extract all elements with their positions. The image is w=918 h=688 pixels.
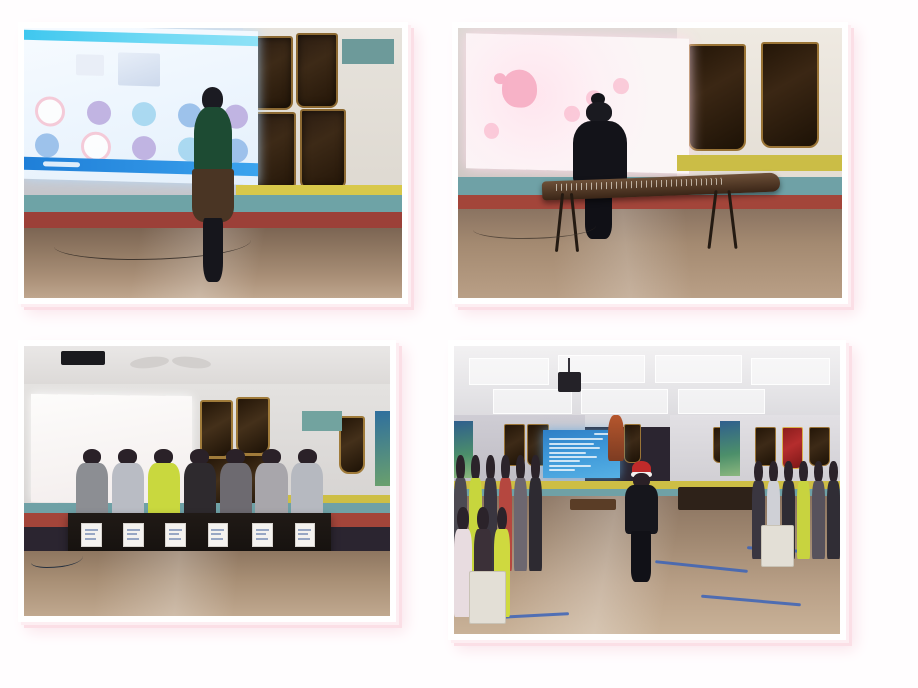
ceiling-projector <box>61 351 105 365</box>
honor-plaque <box>755 427 776 466</box>
honor-plaque <box>688 44 746 151</box>
audience-chair <box>761 525 794 567</box>
speaker-legs <box>631 531 650 582</box>
ceiling-coffer <box>581 389 668 414</box>
paper-sign <box>165 523 185 547</box>
paper-sign <box>208 523 228 547</box>
decoration-plant <box>608 415 623 461</box>
room-door <box>342 39 395 190</box>
honor-plaque <box>339 416 365 474</box>
performer <box>75 449 108 519</box>
singer-torso <box>194 107 232 177</box>
ceiling-coffer <box>655 355 742 383</box>
balloon-icon <box>613 77 629 94</box>
guzheng-strings <box>557 178 724 191</box>
app-icon <box>132 135 156 160</box>
paper-sign <box>123 523 143 547</box>
photo-bottom-left[interactable] <box>24 346 390 616</box>
app-icon <box>81 131 111 162</box>
wall-stripe-yellow <box>677 155 842 171</box>
photo-frame-bottom-right[interactable] <box>448 340 846 640</box>
honor-plaque <box>296 33 338 107</box>
ceiling-coffer <box>751 358 830 386</box>
ceiling-fan-icon <box>130 357 211 368</box>
stage-table <box>68 513 332 556</box>
photo-bottom-right[interactable] <box>454 346 840 634</box>
speaker-body <box>625 485 658 533</box>
ceiling-coffer <box>493 389 572 414</box>
app-thumbnail <box>118 52 160 87</box>
honor-plaque <box>761 42 819 149</box>
ceiling-projector <box>558 372 581 392</box>
audience-chair <box>469 571 506 625</box>
photo-collage <box>0 0 918 688</box>
performer <box>255 449 288 519</box>
app-logo <box>43 161 80 167</box>
honor-plaque <box>300 109 346 189</box>
small-table <box>570 499 616 511</box>
honor-plaque <box>809 427 830 466</box>
speaker-figure <box>624 461 659 582</box>
wall-bench <box>678 487 755 510</box>
photo-frame-top-right[interactable] <box>452 22 848 304</box>
photo-frame-top-left[interactable] <box>18 22 408 304</box>
singer-skirt <box>192 169 234 221</box>
balloon-icon <box>483 123 499 140</box>
player-body <box>573 121 627 186</box>
photo-top-right[interactable] <box>458 28 842 298</box>
paper-sign <box>81 523 101 547</box>
performer <box>183 449 216 519</box>
performer <box>219 449 252 519</box>
ceiling-coffer <box>678 389 765 414</box>
singer-legs <box>203 218 223 282</box>
singer-figure <box>190 87 235 281</box>
wall-poster <box>375 411 390 487</box>
paper-sign <box>295 523 315 547</box>
photo-frame-bottom-left[interactable] <box>18 340 396 622</box>
performers-group <box>75 443 324 519</box>
app-icon <box>35 133 59 158</box>
wall-poster <box>720 421 739 476</box>
ceiling-coffer <box>469 358 548 386</box>
app-icon <box>87 100 111 125</box>
app-thumbnail <box>76 54 104 76</box>
performer <box>147 449 180 519</box>
honor-plaque <box>624 424 641 463</box>
performer <box>111 449 144 519</box>
heart-icon <box>35 96 65 127</box>
app-top-bar <box>24 29 258 46</box>
paper-sign <box>252 523 272 547</box>
photo-top-left[interactable] <box>24 28 402 298</box>
app-icon <box>132 102 156 127</box>
performer <box>291 449 324 519</box>
cartoon-bear-icon <box>501 69 537 108</box>
